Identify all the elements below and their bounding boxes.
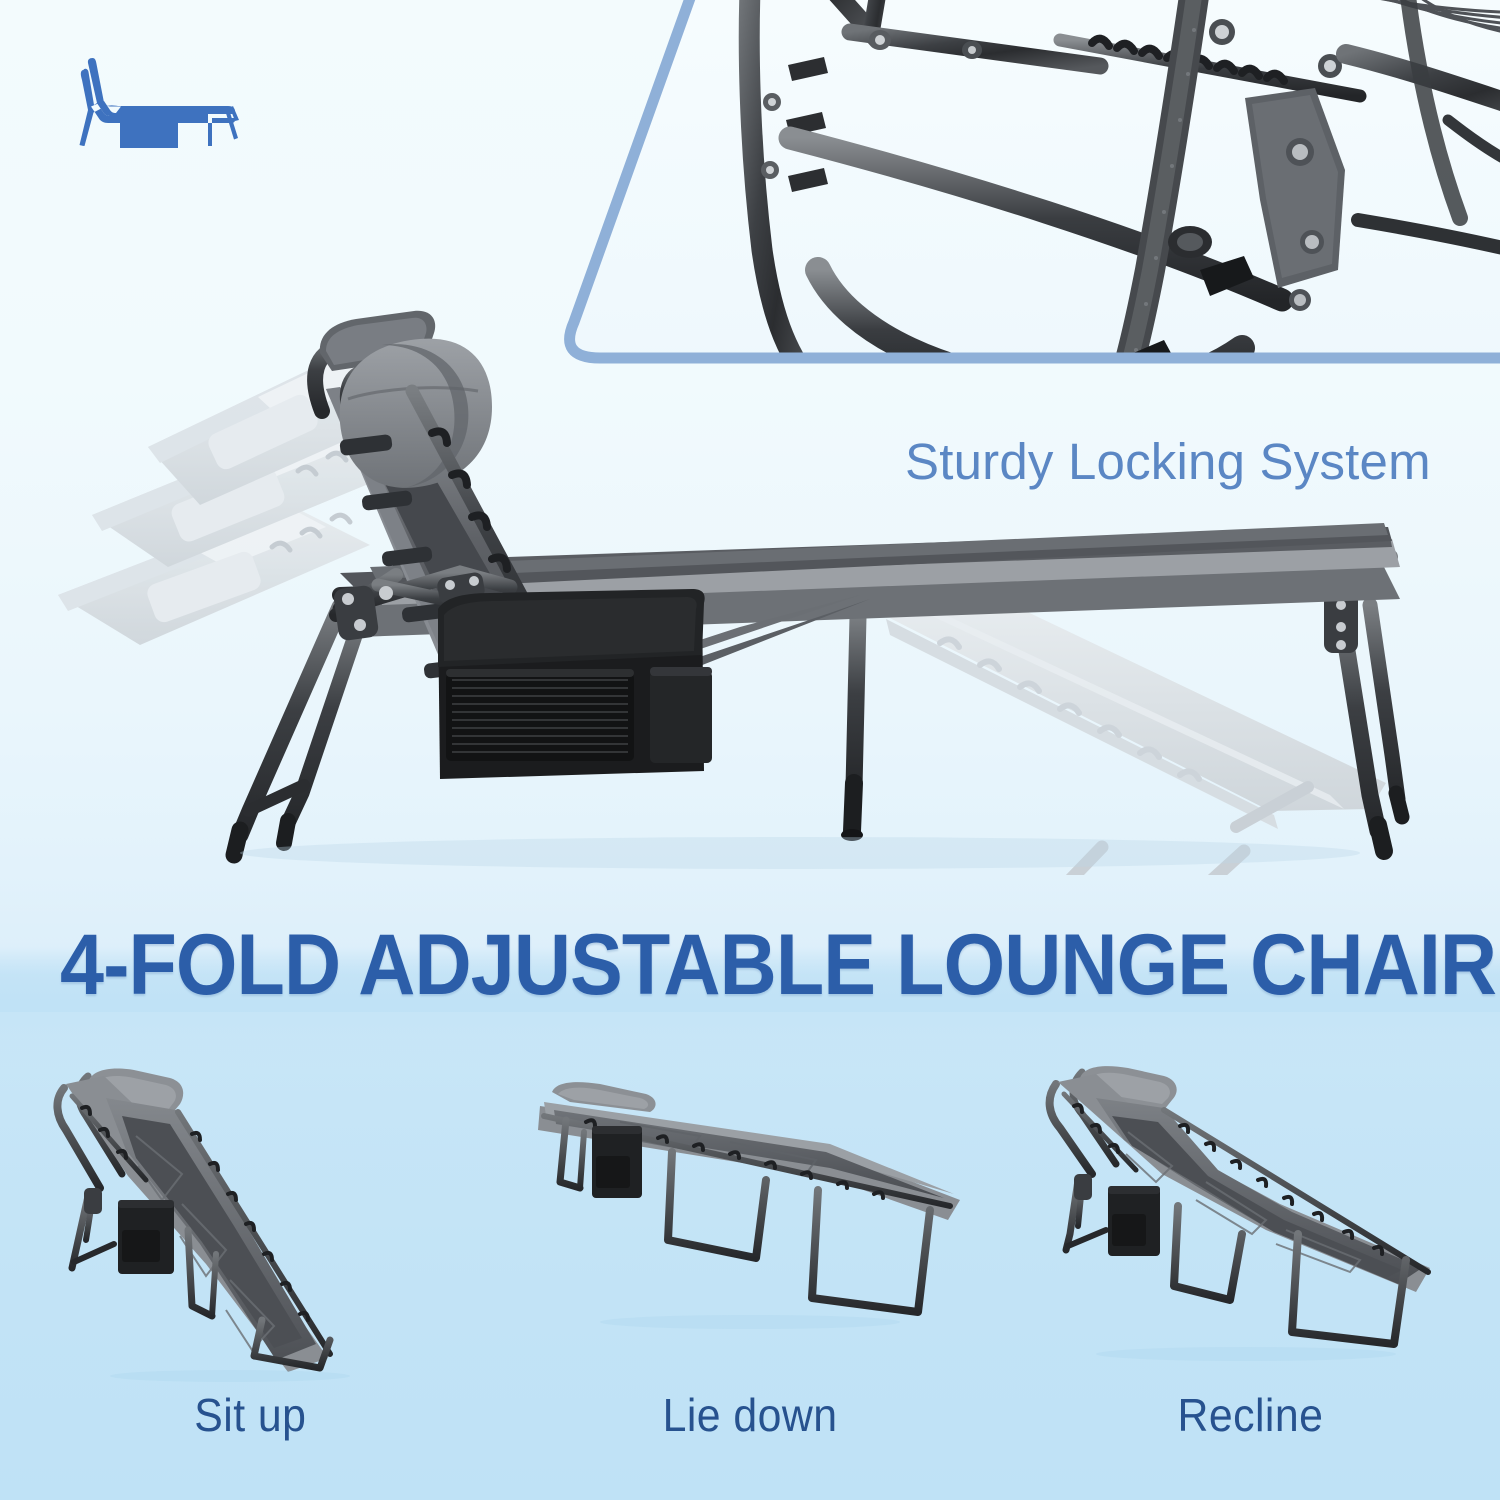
variant-lie-down: Lie down	[500, 1020, 1000, 1500]
feature-label: Sturdy Locking System	[905, 432, 1431, 491]
page-title: 4-FOLD ADJUSTABLE LOUNGE CHAIR	[60, 916, 1440, 1015]
variant-lie-down-image	[530, 1054, 970, 1384]
hero-product-image	[40, 175, 1470, 875]
side-organizer-pocket	[438, 589, 712, 779]
variant-sit-up: Sit up	[0, 1020, 500, 1500]
mesh-pocket	[446, 673, 634, 761]
variant-recline-image	[1030, 1054, 1470, 1384]
variant-gallery: Sit up	[0, 1020, 1500, 1500]
hero-lounge-chair-illustration	[40, 175, 1470, 875]
variant-label-recline: Recline	[1177, 1388, 1323, 1442]
variant-label-lie-down: Lie down	[663, 1388, 838, 1442]
infographic-canvas: Sturdy Locking System 4-FOLD ADJUSTABLE …	[0, 0, 1500, 1500]
variant-label-sit-up: Sit up	[194, 1388, 306, 1442]
solid-pocket	[650, 671, 712, 763]
headrest-pillow	[340, 339, 492, 488]
brand-logo	[58, 48, 240, 156]
variant-recline: Recline	[1000, 1020, 1500, 1500]
variant-sit-up-image	[30, 1054, 470, 1384]
lounge-chair-silhouette-icon	[58, 48, 240, 156]
ghost-footrest-position	[876, 595, 1386, 875]
